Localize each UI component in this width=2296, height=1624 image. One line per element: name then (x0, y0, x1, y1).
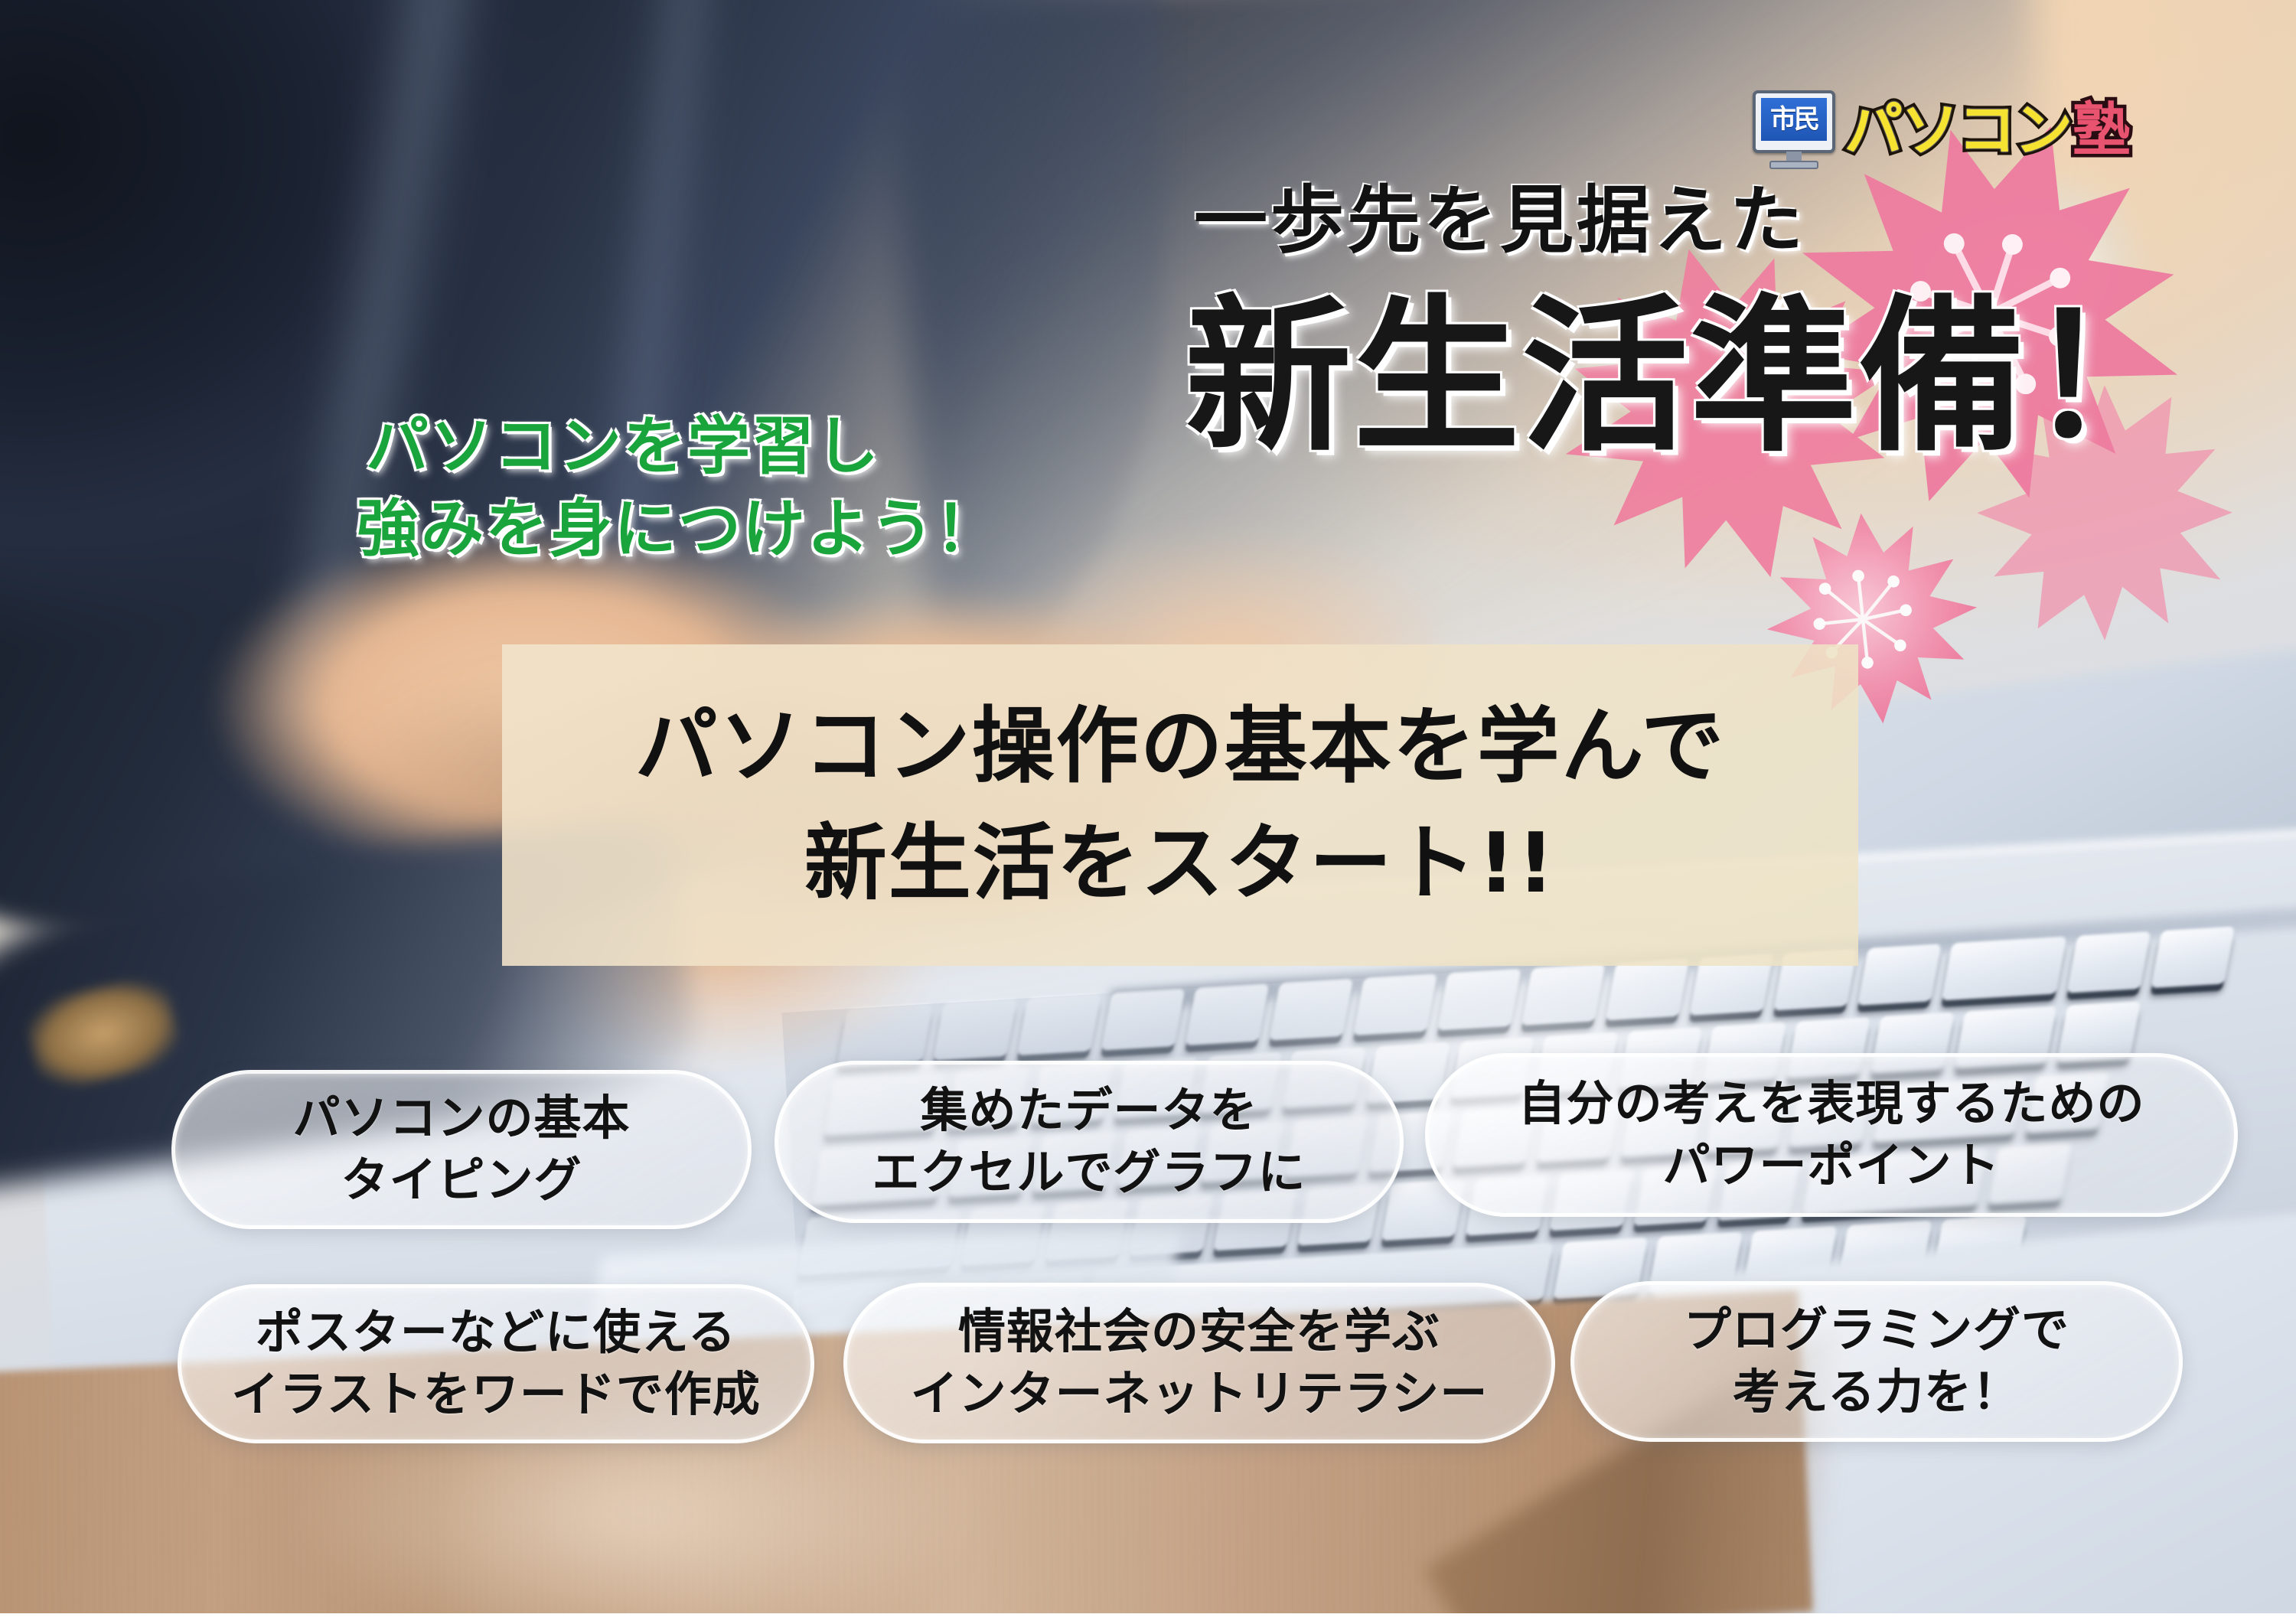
course-pill-label: 集めたデータを エクセルでグラフに (872, 1080, 1306, 1203)
course-pill-label: 自分の考えを表現するための パワーポイント (1518, 1073, 2144, 1196)
course-pill-powerpoint[interactable]: 自分の考えを表現するための パワーポイント (1425, 1053, 2238, 1217)
course-pill-line1: パソコンの基本 (292, 1088, 630, 1150)
course-pill-excel[interactable]: 集めたデータを エクセルでグラフに (775, 1061, 1404, 1223)
green-tagline: パソコンを学習し 強みを身につけよう！ (366, 406, 1000, 571)
course-pill-line1: プログラミングで (1684, 1300, 2069, 1361)
course-pill-line1: 集めたデータを (872, 1080, 1306, 1142)
course-pill-label: 情報社会の安全を学ぶ インターネットリテラシー (911, 1301, 1489, 1424)
course-pill-label: ポスターなどに使える イラストをワードで作成 (231, 1302, 761, 1425)
course-pill-typing[interactable]: パソコンの基本 タイピング (171, 1070, 752, 1229)
course-pill-line1: ポスターなどに使える (231, 1302, 761, 1364)
monitor-icon-label: 市民 (1770, 106, 1818, 132)
course-pill-line2: タイピング (292, 1150, 630, 1211)
brand-logo-text: パソコン 塾 (1844, 101, 2129, 159)
bottom-border (0, 1613, 2296, 1624)
headline-eyebrow: 一歩先を見据えた (1194, 184, 1806, 257)
course-pill-line2: エクセルでグラフに (872, 1142, 1306, 1204)
brand-name-yellow: パソコン (1844, 101, 2071, 159)
banner-line2: 新生活をスタート!! (804, 805, 1557, 922)
green-tagline-line2: 強みを身につけよう！ (357, 488, 1000, 571)
course-pill-line2: イラストをワードで作成 (231, 1364, 761, 1426)
brand-logo[interactable]: 市民 パソコン 塾 (1753, 90, 2129, 170)
course-pill-word[interactable]: ポスターなどに使える イラストをワードで作成 (178, 1284, 814, 1443)
monitor-icon: 市民 (1753, 90, 1835, 170)
course-pill-line2: 考える力を！ (1684, 1361, 2069, 1423)
course-pill-label: パソコンの基本 タイピング (292, 1088, 630, 1211)
poster-canvas: 市民 パソコン 塾 一歩先を見据えた 新生活準備！ パソコンを学習し 強みを身に… (0, 0, 2296, 1624)
course-pill-line1: 自分の考えを表現するための (1518, 1073, 2144, 1135)
course-pill-line2: パワーポイント (1518, 1135, 2144, 1197)
course-pill-label: プログラミングで 考える力を！ (1684, 1300, 2069, 1423)
brand-name-pink: 塾 (2073, 101, 2129, 159)
page-title: 新生活準備！ (1185, 289, 2195, 466)
message-banner-text: パソコン操作の基本を学んで 新生活をスタート!! (502, 644, 1858, 966)
course-pill-programming[interactable]: プログラミングで 考える力を！ (1570, 1281, 2183, 1442)
course-pill-internet-literacy[interactable]: 情報社会の安全を学ぶ インターネットリテラシー (843, 1283, 1555, 1443)
green-tagline-line1: パソコンを学習し (366, 410, 880, 483)
course-pill-line2: インターネットリテラシー (911, 1363, 1489, 1425)
banner-line1: パソコン操作の基本を学んで (635, 688, 1726, 805)
course-pill-line1: 情報社会の安全を学ぶ (911, 1301, 1489, 1363)
